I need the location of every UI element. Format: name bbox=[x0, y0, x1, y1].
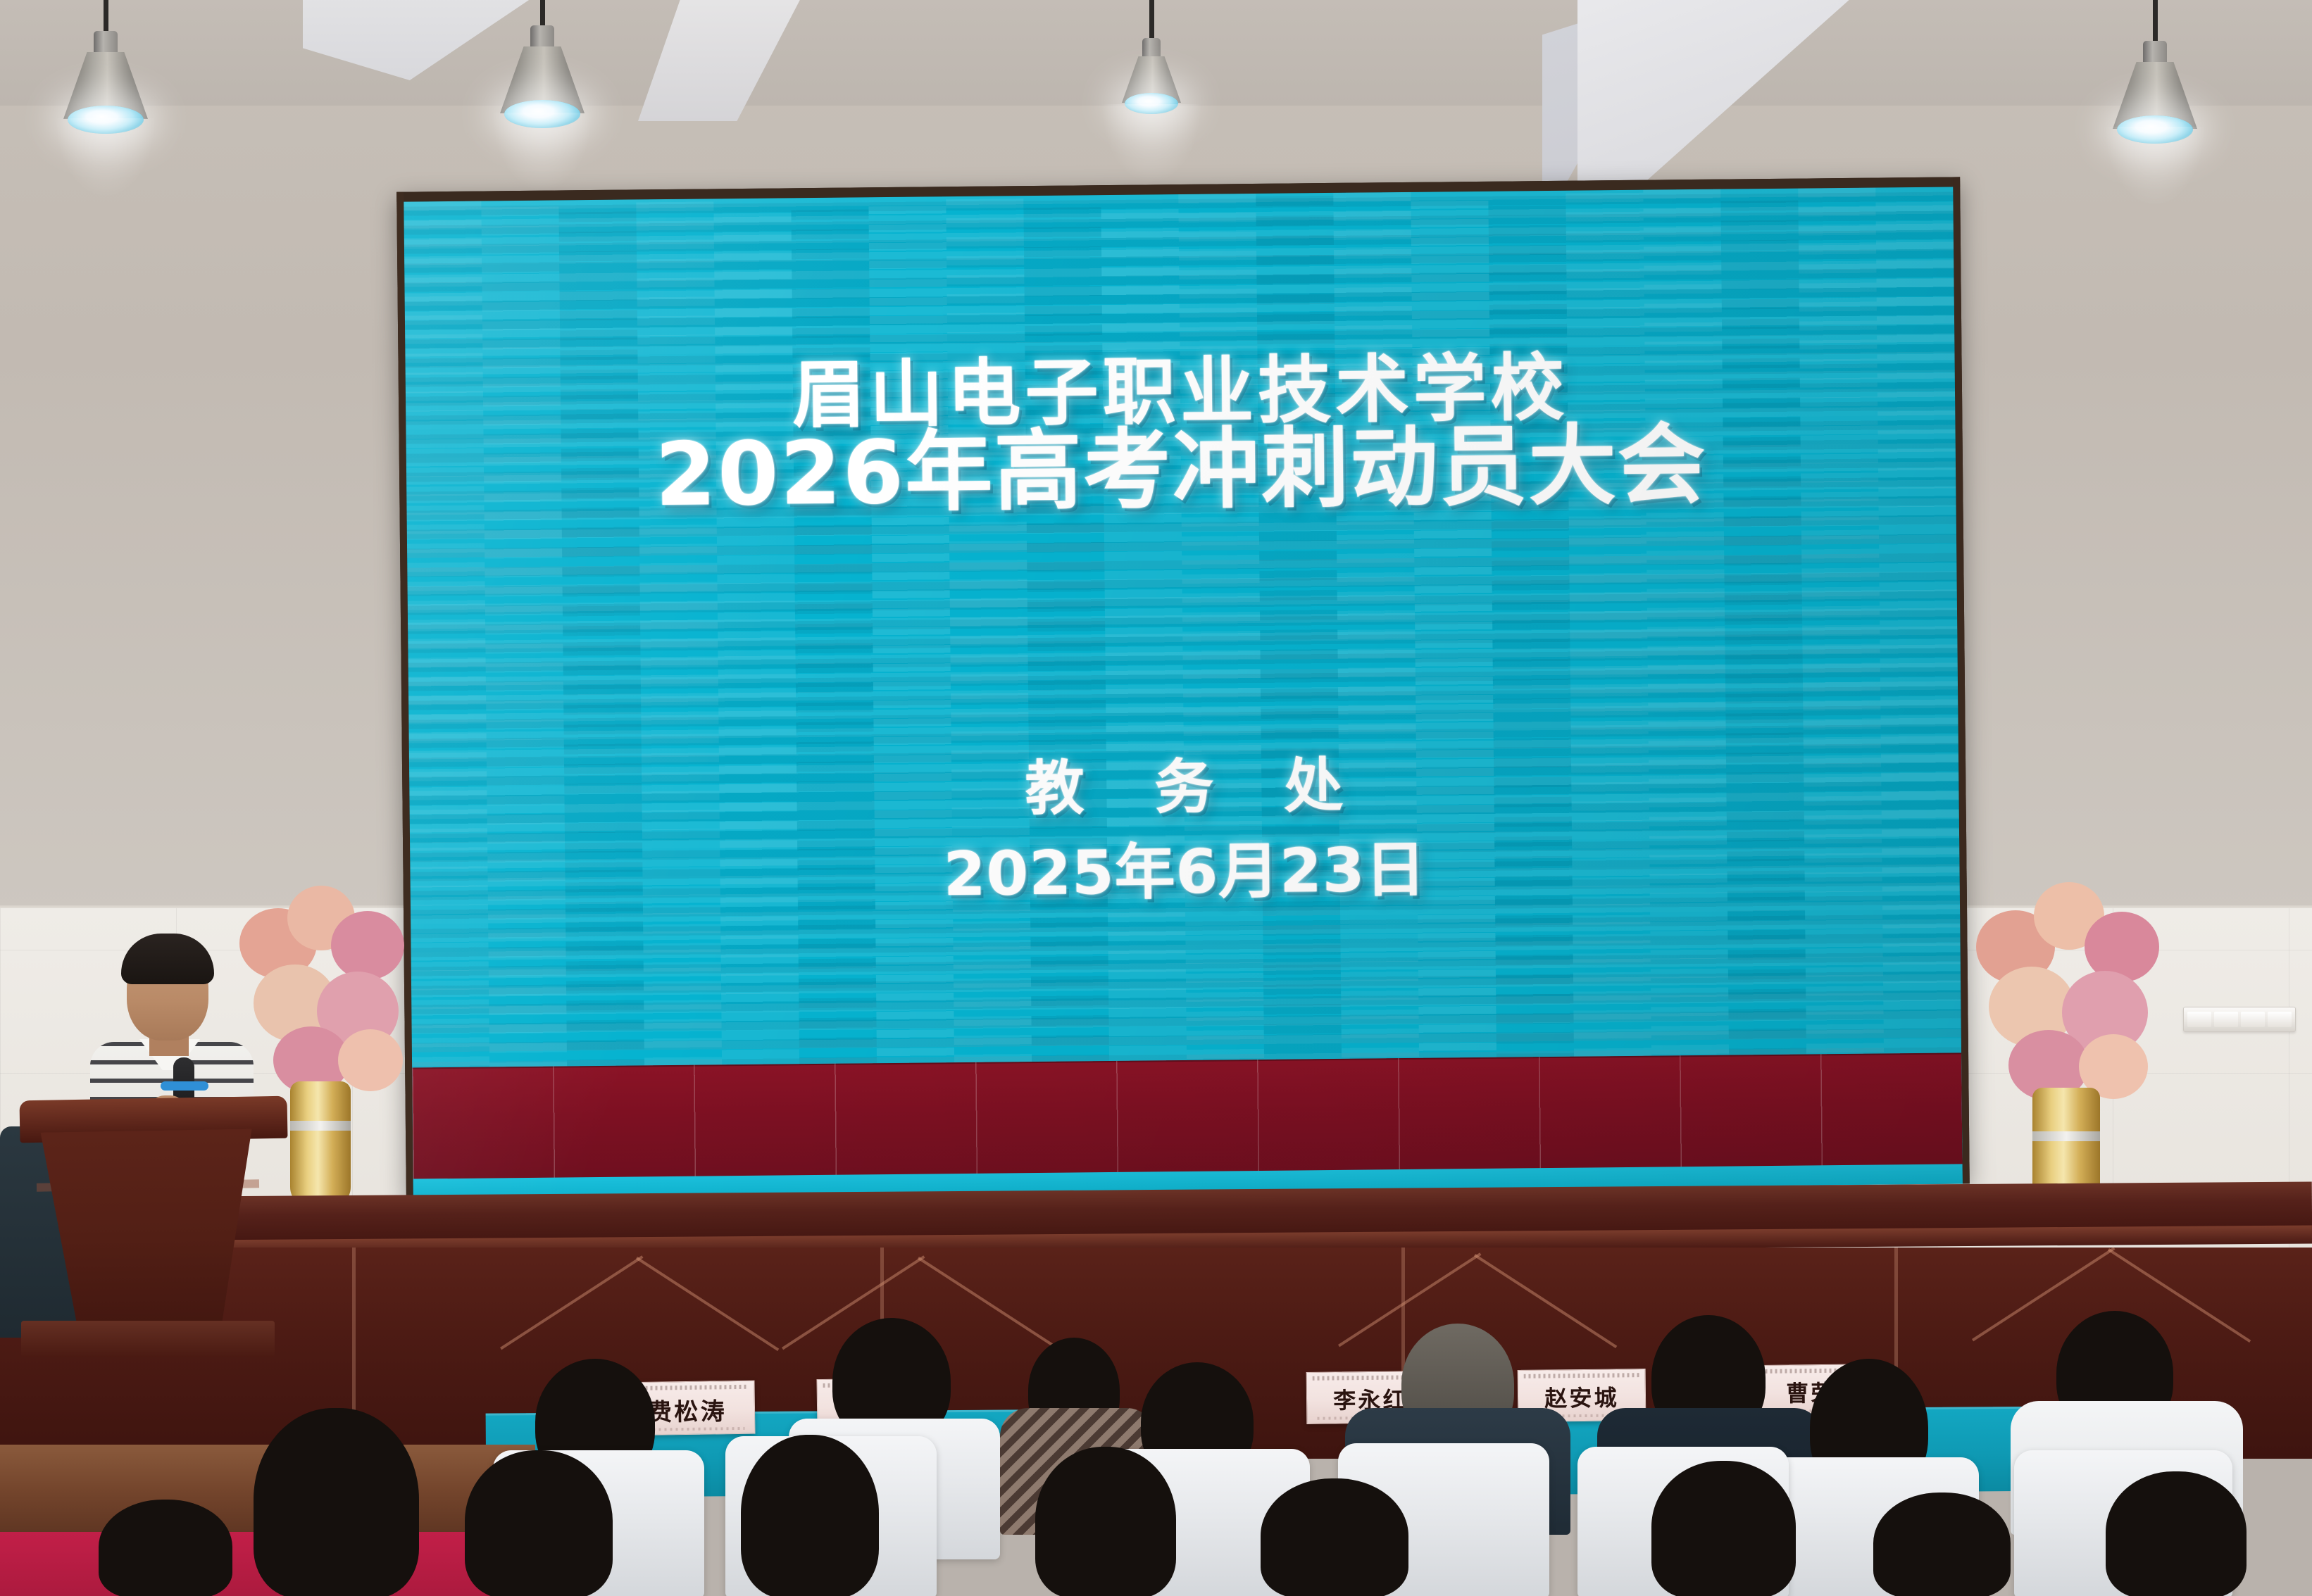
lamp-light-spill bbox=[493, 113, 592, 190]
switch-toggle-4[interactable] bbox=[2268, 1012, 2292, 1027]
pendant-lamp-1 bbox=[56, 0, 155, 134]
pendant-lamp-2 bbox=[493, 0, 592, 134]
audience-head bbox=[741, 1435, 879, 1596]
speaker-at-podium bbox=[85, 929, 296, 1119]
placard-header-line bbox=[1524, 1373, 1639, 1378]
light-switch-panel[interactable] bbox=[2183, 1007, 2296, 1032]
audience-head bbox=[465, 1450, 613, 1596]
lamp-light-spill bbox=[56, 118, 155, 196]
auditorium-photo: 眉山电子职业技术学校 2026年高考冲刺动员大会 教 务 处 2025年6月23… bbox=[0, 0, 2312, 1596]
podium-body bbox=[41, 1129, 256, 1329]
led-panel-seams bbox=[412, 1053, 1962, 1180]
audience-head bbox=[1035, 1447, 1176, 1596]
lamp-light-spill bbox=[1102, 104, 1201, 182]
microphone-band bbox=[161, 1081, 208, 1091]
audience-head bbox=[1651, 1461, 1796, 1596]
flower-vase bbox=[290, 1081, 351, 1208]
switch-toggle-1[interactable] bbox=[2187, 1012, 2211, 1027]
led-screen-frame: 眉山电子职业技术学校 2026年高考冲刺动员大会 教 务 处 2025年6月23… bbox=[396, 177, 1970, 1198]
slide-line-event-title: 2026年高考冲刺动员大会 bbox=[406, 419, 1956, 521]
lamp-neck bbox=[1142, 38, 1161, 59]
slide-line-date: 2025年6月23日 bbox=[410, 834, 1960, 910]
audience-head bbox=[1261, 1478, 1408, 1596]
lamp-cord bbox=[2153, 0, 2158, 44]
placard-name: 赵安城 bbox=[1544, 1380, 1619, 1413]
slide-bottom-band bbox=[412, 1053, 1962, 1180]
podium-base bbox=[21, 1321, 275, 1357]
slide-line-department: 教 务 处 bbox=[409, 750, 1959, 824]
pendant-lamp-3 bbox=[1109, 0, 1194, 120]
audience-head bbox=[99, 1500, 232, 1596]
switch-toggle-3[interactable] bbox=[2241, 1012, 2265, 1027]
placard-name: 费松涛 bbox=[648, 1392, 727, 1428]
switch-toggle-2[interactable] bbox=[2214, 1012, 2238, 1027]
red-carpet bbox=[0, 1532, 493, 1596]
lamp-cord bbox=[104, 0, 108, 34]
lamp-cord bbox=[1149, 0, 1154, 41]
flower-arrangement-right bbox=[1972, 876, 2183, 1193]
pendant-lamp-4 bbox=[2106, 0, 2204, 141]
audience-head bbox=[254, 1408, 419, 1596]
audience-head bbox=[1873, 1493, 2011, 1596]
slide-text-block: 眉山电子职业技术学校 2026年高考冲刺动员大会 教 务 处 2025年6月23… bbox=[404, 187, 1962, 1198]
speaker-hair bbox=[121, 934, 214, 984]
lamp-light-spill bbox=[2106, 127, 2204, 204]
audience-head bbox=[2106, 1471, 2247, 1596]
lamp-cord bbox=[540, 0, 545, 28]
led-screen-display[interactable]: 眉山电子职业技术学校 2026年高考冲刺动员大会 教 务 处 2025年6月23… bbox=[404, 187, 1962, 1198]
